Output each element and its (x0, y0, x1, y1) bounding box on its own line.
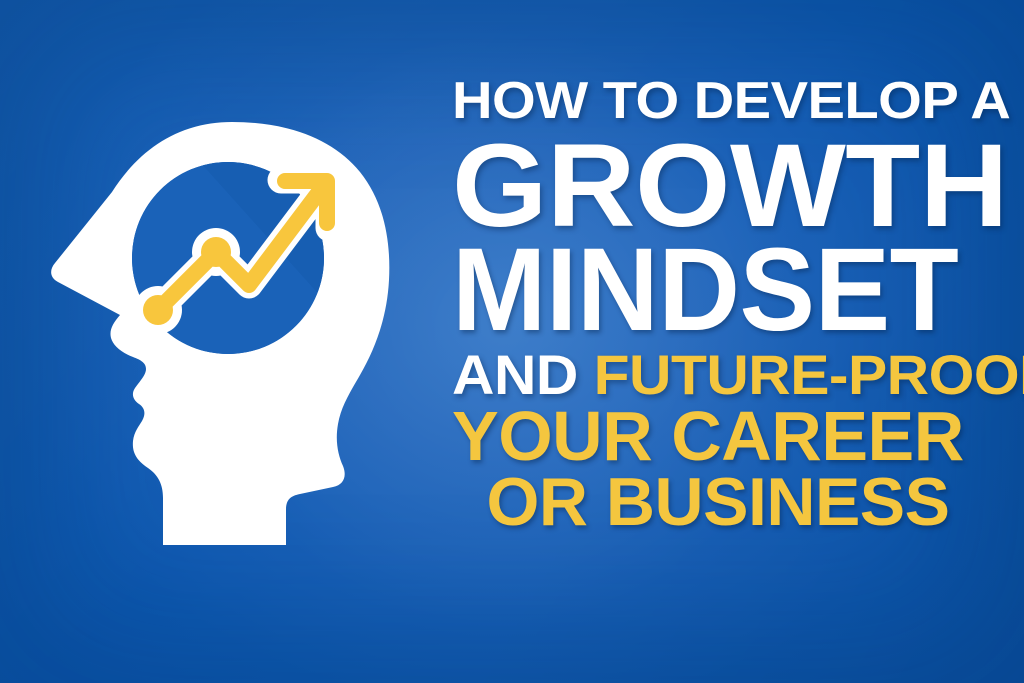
headline-line-4: AND FUTURE-PROOF (452, 349, 1006, 401)
data-point-dot-1 (143, 295, 173, 325)
headline-line-1: HOW TO DEVELOP A (452, 78, 1022, 126)
poster-canvas: HOW TO DEVELOP A GROWTH MINDSET AND FUTU… (0, 0, 1024, 683)
headline-line-6-or-business: OR BUSINESS (458, 471, 978, 534)
data-point-dot-2 (201, 237, 231, 267)
headline-line-3-mindset: MINDSET (452, 236, 959, 345)
head-growth-chart-illustration (0, 0, 440, 683)
headline-block: HOW TO DEVELOP A GROWTH MINDSET AND FUTU… (452, 78, 980, 533)
headline-line-5-your-career: YOUR CAREER (452, 404, 980, 468)
